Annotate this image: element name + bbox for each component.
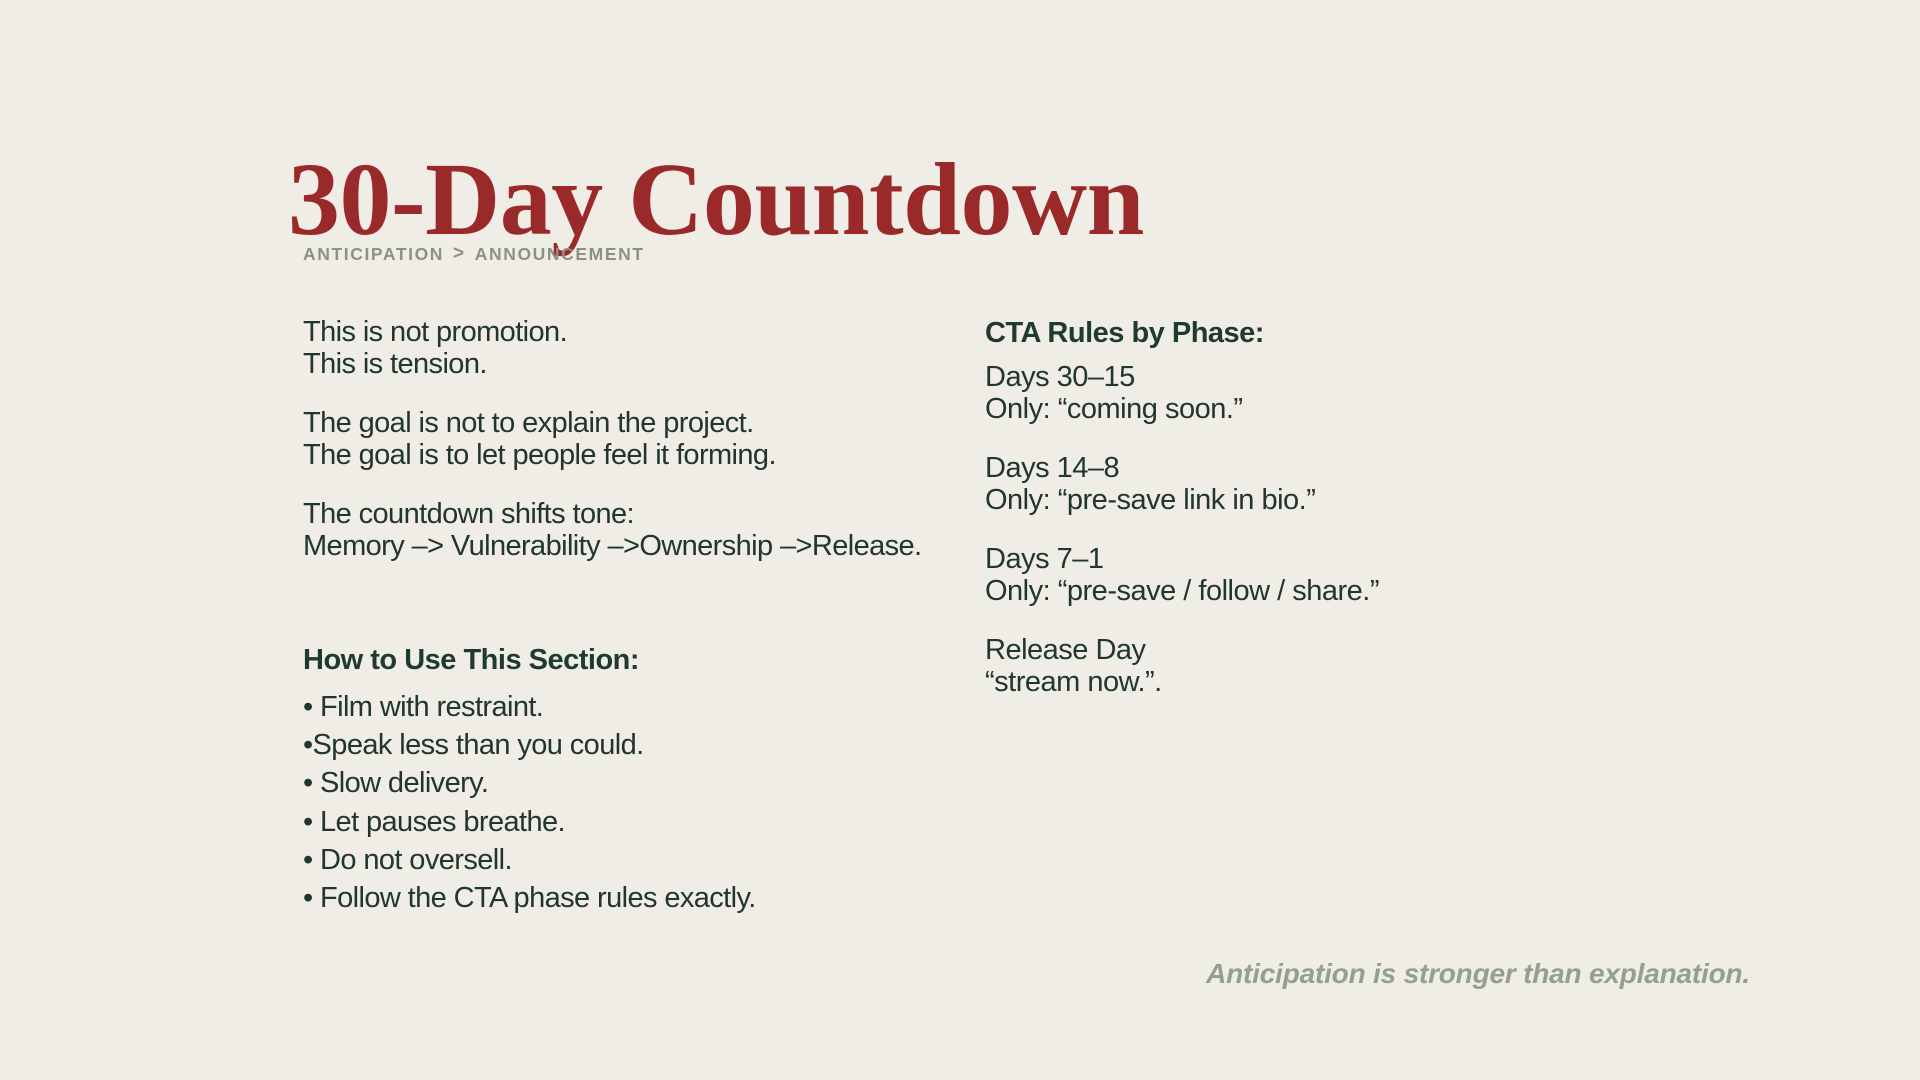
how-to-use-heading: How to Use This Section: — [303, 643, 963, 678]
breadcrumb: ANTICIPATION > ANNOUNCEMENT — [303, 243, 645, 265]
phase-range: Days 30–15 — [985, 361, 1705, 393]
breadcrumb-item-anticipation: ANTICIPATION — [303, 244, 444, 265]
phase-block: Release Day “stream now.”. — [985, 634, 1705, 699]
paragraph-tension: This is not promotion. This is tension. — [303, 316, 963, 381]
list-item: • Do not oversell. — [303, 841, 963, 879]
how-to-use-section: How to Use This Section: • Film with res… — [303, 643, 963, 917]
paragraph-tone-shift: The countdown shifts tone: Memory –> Vul… — [303, 498, 963, 563]
list-item: • Slow delivery. — [303, 764, 963, 802]
footer-tagline: Anticipation is stronger than explanatio… — [1206, 958, 1750, 990]
phase-block: Days 14–8 Only: “pre-save link in bio.” — [985, 452, 1705, 517]
list-item: • Follow the CTA phase rules exactly. — [303, 879, 963, 917]
how-to-use-bullet-list: • Film with restraint. •Speak less than … — [303, 688, 963, 918]
phase-block: Days 30–15 Only: “coming soon.” — [985, 361, 1705, 426]
paragraph-line: The countdown shifts tone: — [303, 498, 963, 530]
paragraph-line: Memory –> Vulnerability –>Ownership –>Re… — [303, 530, 963, 562]
list-item: •Speak less than you could. — [303, 726, 963, 764]
breadcrumb-separator-icon: > — [453, 243, 466, 265]
phase-rule: Only: “pre-save link in bio.” — [985, 484, 1705, 516]
breadcrumb-item-announcement: ANNOUNCEMENT — [475, 244, 645, 265]
paragraph-line: The goal is not to explain the project. — [303, 407, 963, 439]
slide-canvas: 30-Day Countdown ANTICIPATION > ANNOUNCE… — [0, 0, 1920, 1080]
right-column: CTA Rules by Phase: Days 30–15 Only: “co… — [985, 316, 1705, 725]
phase-rule: “stream now.”. — [985, 666, 1705, 698]
paragraph-goal: The goal is not to explain the project. … — [303, 407, 963, 472]
phase-range: Days 7–1 — [985, 543, 1705, 575]
left-column: This is not promotion. This is tension. … — [303, 316, 963, 563]
phase-rule: Only: “coming soon.” — [985, 393, 1705, 425]
phase-range: Release Day — [985, 634, 1705, 666]
paragraph-line: The goal is to let people feel it formin… — [303, 439, 963, 471]
paragraph-line: This is not promotion. — [303, 316, 963, 348]
phase-rule: Only: “pre-save / follow / share.” — [985, 575, 1705, 607]
cta-rules-heading: CTA Rules by Phase: — [985, 316, 1705, 351]
list-item: • Film with restraint. — [303, 688, 963, 726]
list-item: • Let pauses breathe. — [303, 803, 963, 841]
page-title: 30-Day Countdown — [288, 148, 1144, 252]
paragraph-line: This is tension. — [303, 348, 963, 380]
phase-block: Days 7–1 Only: “pre-save / follow / shar… — [985, 543, 1705, 608]
phase-range: Days 14–8 — [985, 452, 1705, 484]
